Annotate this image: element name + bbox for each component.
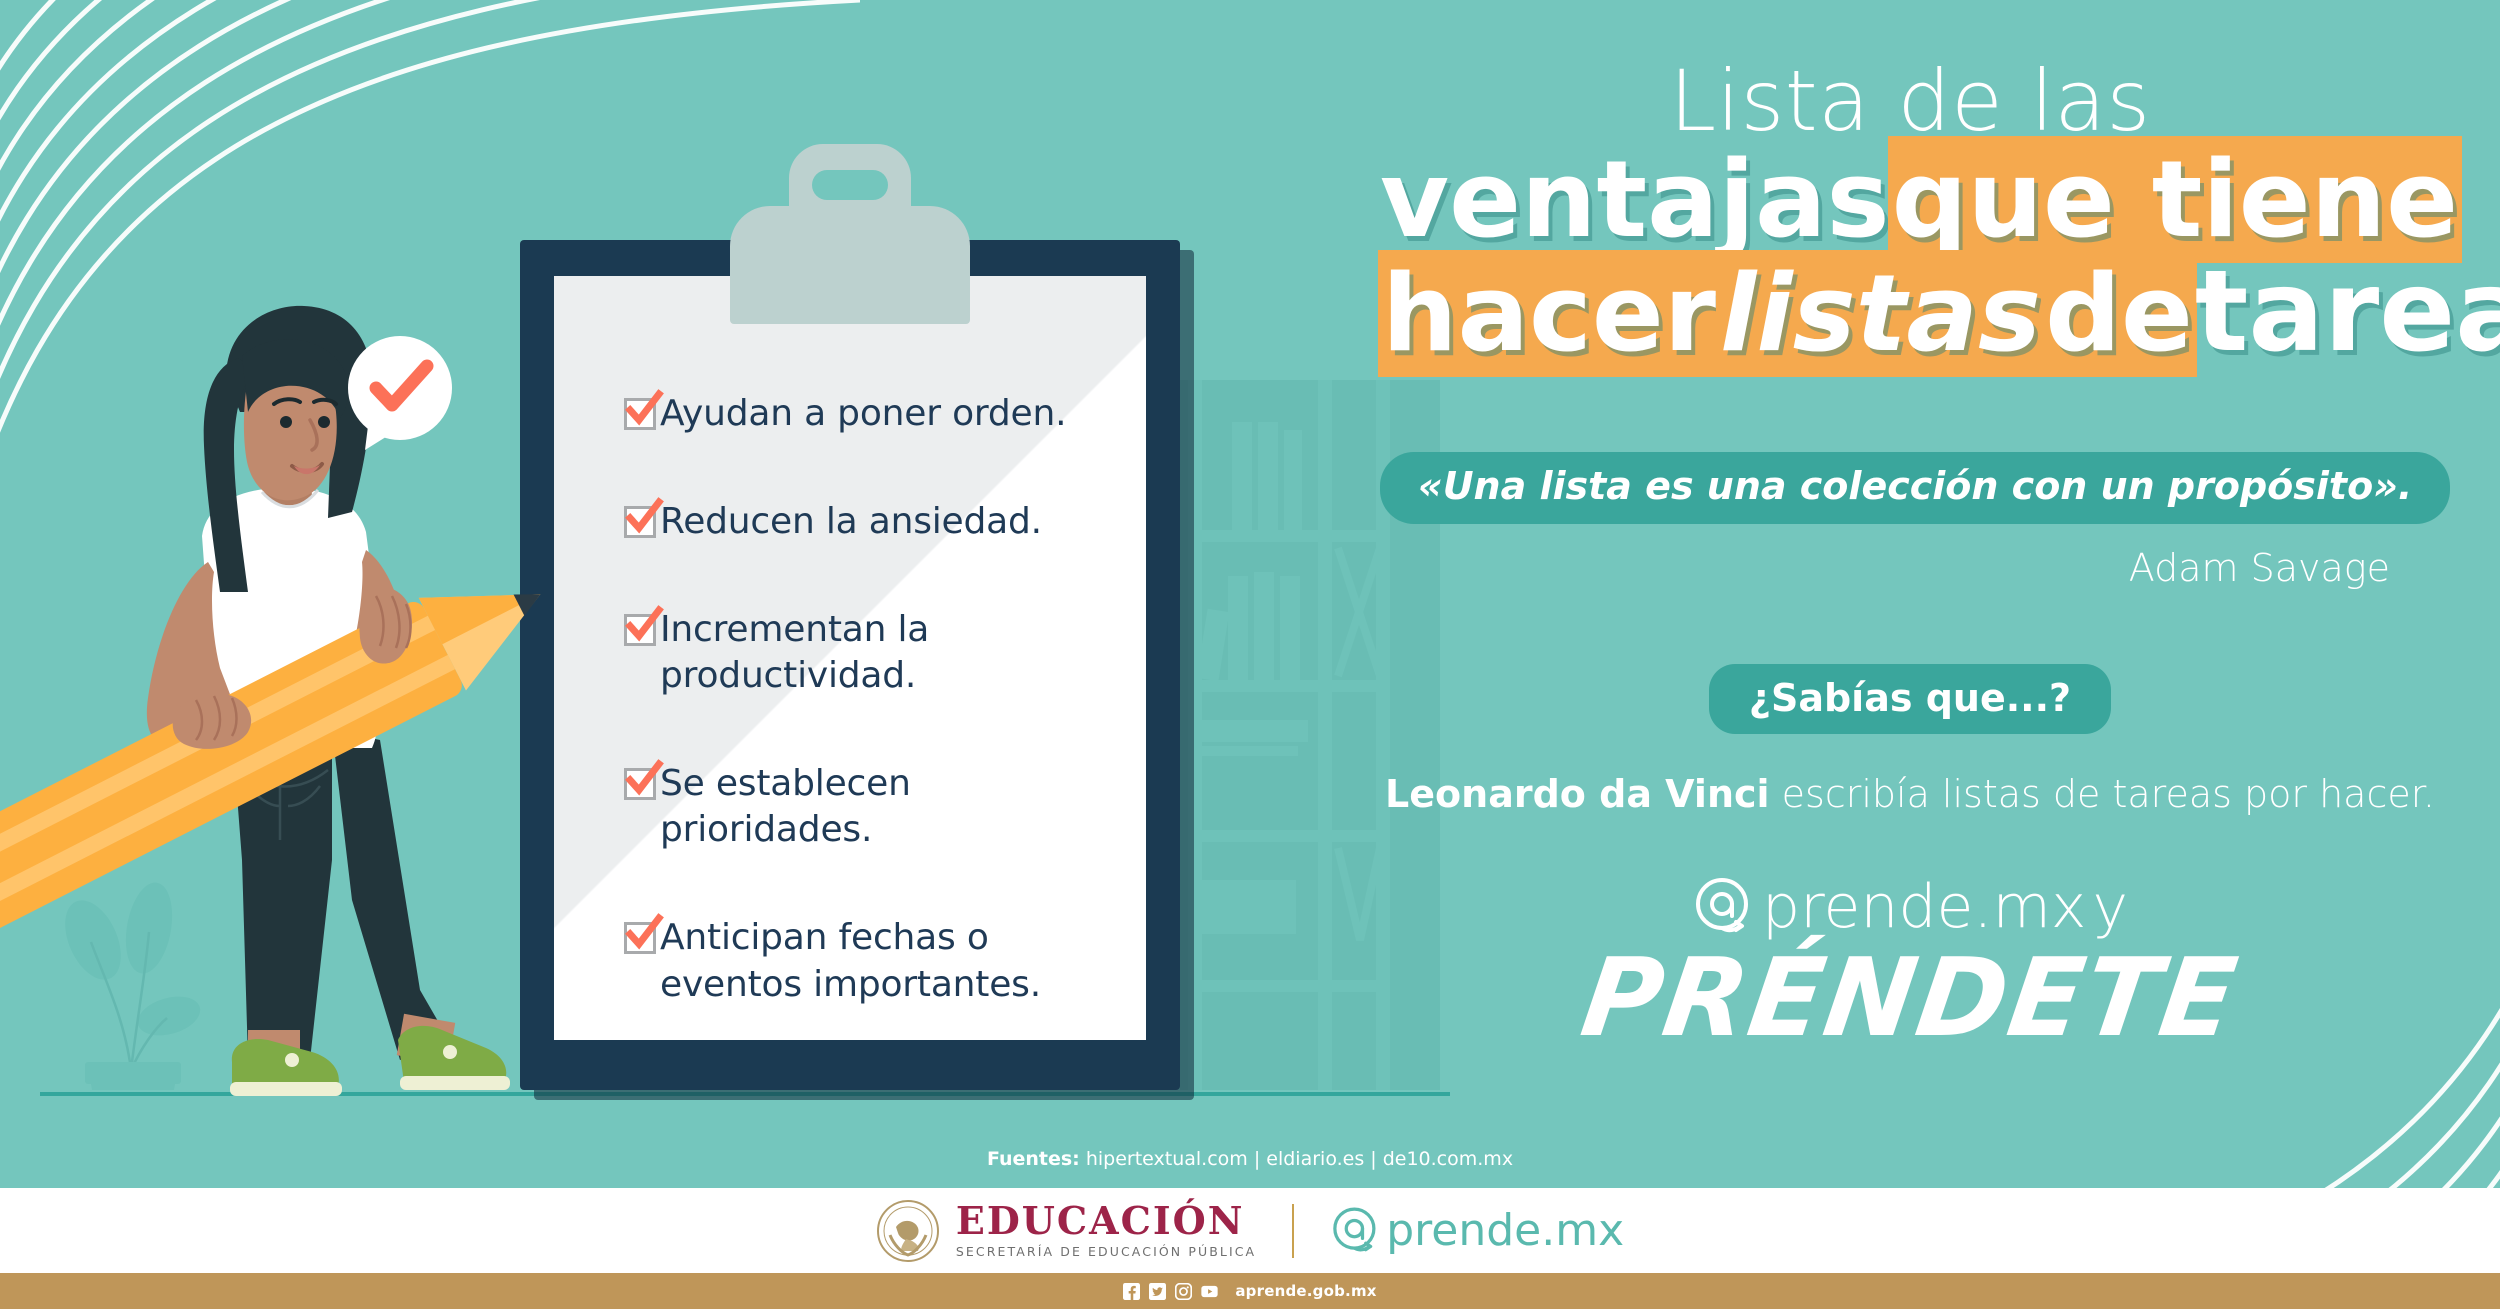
title-word-ventajas: ventajas [1380, 138, 1890, 261]
youtube-icon[interactable] [1201, 1283, 1218, 1300]
title-line-2: ventajasque tiene [1380, 148, 2440, 252]
at-symbol-icon [1692, 872, 1756, 942]
education-title: EDUCACIÓN [956, 1202, 1256, 1240]
sources-value: hipertextual.com | eldiario.es | de10.co… [1080, 1148, 1513, 1170]
brand-conjunction: y [2092, 872, 2128, 942]
aprende-footer-name: prende.mx [1386, 1205, 1624, 1256]
title-highlight-listas: listas [1718, 252, 2043, 375]
list-item-label: Se establecen prioridades. [660, 761, 1116, 853]
aprende-brand: prende.mx y [1380, 872, 2440, 942]
speech-bubble-check-icon [335, 330, 465, 465]
list-item-label: Anticipan fechas o eventos importantes. [660, 915, 1116, 1007]
quote-text: «Una lista es una colección con un propó… [1418, 464, 2412, 508]
fact-text: Leonardo da Vinci escribía listas de tar… [1380, 772, 2440, 816]
fact-rest: escribía listas de tareas por hacer. [1770, 772, 2435, 816]
checkbox-checked-icon[interactable] [624, 398, 656, 430]
title-highlight-que-tiene: que tiene [1890, 138, 2460, 261]
checkbox-checked-icon[interactable] [624, 506, 656, 538]
title-highlight-de: de [2043, 252, 2195, 375]
list-item-label: Reducen la ansiedad. [660, 499, 1042, 545]
bottom-bar-url[interactable]: aprende.gob.mx [1235, 1282, 1376, 1300]
list-item-label: Ayudan a poner orden. [660, 391, 1066, 437]
aprende-footer-logo: prende.mx [1330, 1202, 1624, 1260]
did-you-know-badge: ¿Sabías que...? [1709, 664, 2111, 734]
right-content-column: Lista de las ventajasque tiene hacerlist… [1380, 60, 2440, 1061]
instagram-icon[interactable] [1175, 1283, 1192, 1300]
bottom-bar: aprende.gob.mx [0, 1273, 2500, 1309]
at-symbol-icon [1330, 1202, 1382, 1260]
title-line-3: hacerlistasdetareas [1380, 258, 2440, 368]
title-line-1: Lista de las [1380, 60, 2440, 142]
quote-badge: «Una lista es una colección con un propó… [1380, 452, 2450, 524]
clipboard-paper: Ayudan a poner orden. Reducen la ansieda… [554, 276, 1146, 1040]
brand-name: prende.mx [1762, 872, 2086, 942]
brand-block: prende.mx y PRÉNDETE [1380, 872, 2440, 1061]
prendete-wordmark: PRÉNDETE [1371, 936, 2449, 1061]
checkbox-checked-icon[interactable] [624, 614, 656, 646]
woman-with-pencil-illustration [0, 300, 600, 1105]
fact-highlight: Leonardo da Vinci [1385, 772, 1770, 816]
facebook-icon[interactable] [1123, 1283, 1140, 1300]
twitter-icon[interactable] [1149, 1283, 1166, 1300]
list-item[interactable]: Ayudan a poner orden. [624, 391, 1116, 437]
checkbox-checked-icon[interactable] [624, 922, 656, 954]
checklist: Ayudan a poner orden. Reducen la ansieda… [624, 391, 1116, 1008]
page-title: Lista de las ventajasque tiene hacerlist… [1380, 60, 2440, 368]
title-word-tareas: tareas [2195, 247, 2500, 377]
did-you-know-label: ¿Sabías que...? [1749, 676, 2071, 720]
footer-logos: EDUCACIÓN SECRETARÍA DE EDUCACIÓN PÚBLIC… [0, 1188, 2500, 1273]
checkbox-checked-icon[interactable] [624, 768, 656, 800]
clipboard-clamp [730, 144, 970, 324]
infographic-poster: Ayudan a poner orden. Reducen la ansieda… [0, 0, 2500, 1309]
sep-logo: EDUCACIÓN SECRETARÍA DE EDUCACIÓN PÚBLIC… [876, 1199, 1256, 1263]
sources-label: Fuentes: [987, 1148, 1080, 1170]
sources-line: Fuentes: hipertextual.com | eldiario.es … [0, 1148, 2500, 1170]
quote-author: Adam Savage [1380, 546, 2440, 590]
footer-divider [1292, 1204, 1294, 1258]
education-subtitle: SECRETARÍA DE EDUCACIÓN PÚBLICA [956, 1246, 1256, 1259]
list-item-label: Incrementan la productividad. [660, 607, 1116, 699]
mexico-coat-of-arms-icon [876, 1199, 940, 1263]
title-highlight-hacer: hacer [1380, 252, 1718, 375]
list-item[interactable]: Anticipan fechas o eventos importantes. [624, 915, 1116, 1007]
list-item[interactable]: Reducen la ansiedad. [624, 499, 1116, 545]
list-item[interactable]: Se establecen prioridades. [624, 761, 1116, 853]
clipboard: Ayudan a poner orden. Reducen la ansieda… [520, 240, 1180, 1090]
list-item[interactable]: Incrementan la productividad. [624, 607, 1116, 699]
